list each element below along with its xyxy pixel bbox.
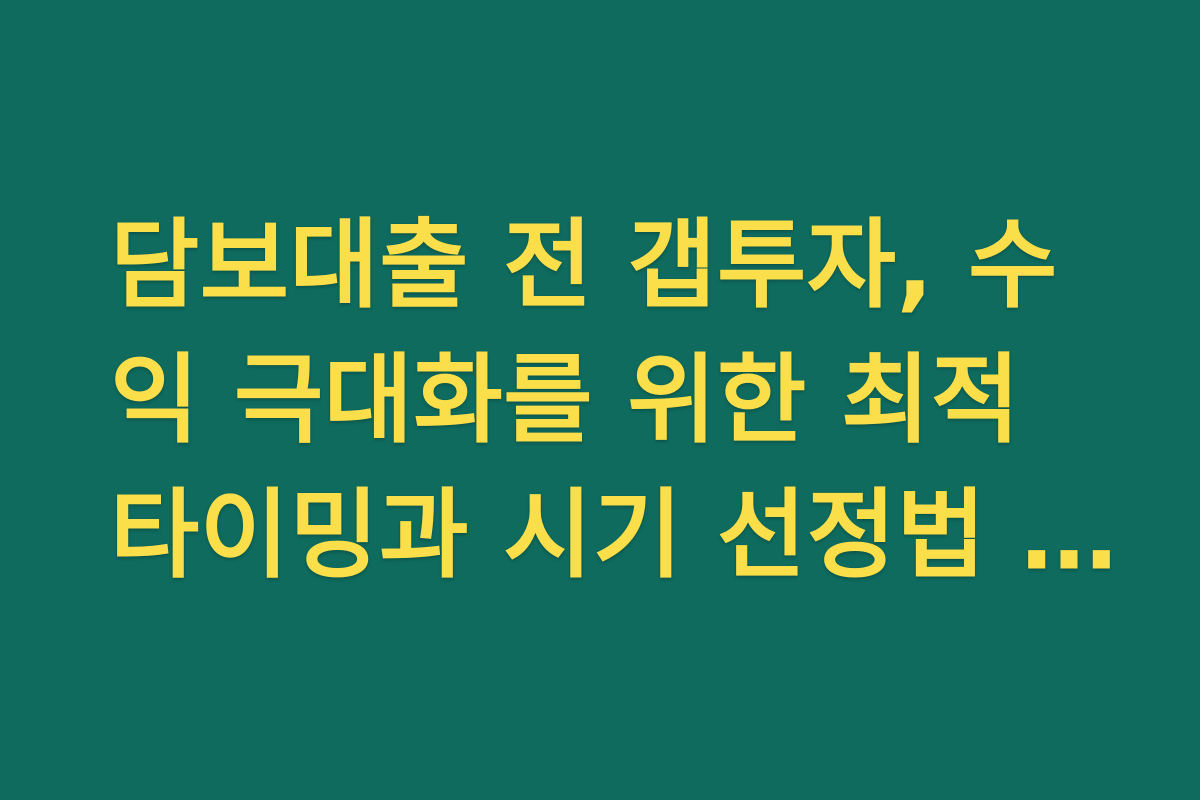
headline-line-2: 익 극대화를 위한 최적 [110,333,1100,468]
headline-line-3: 타이밍과 시기 선정법 … [110,468,1100,603]
headline-line-1: 담보대출 전 갭투자, 수 [110,198,1100,333]
thumbnail-card: 담보대출 전 갭투자, 수 익 극대화를 위한 최적 타이밍과 시기 선정법 … [0,0,1200,800]
headline-text-block: 담보대출 전 갭투자, 수 익 극대화를 위한 최적 타이밍과 시기 선정법 … [110,198,1100,603]
